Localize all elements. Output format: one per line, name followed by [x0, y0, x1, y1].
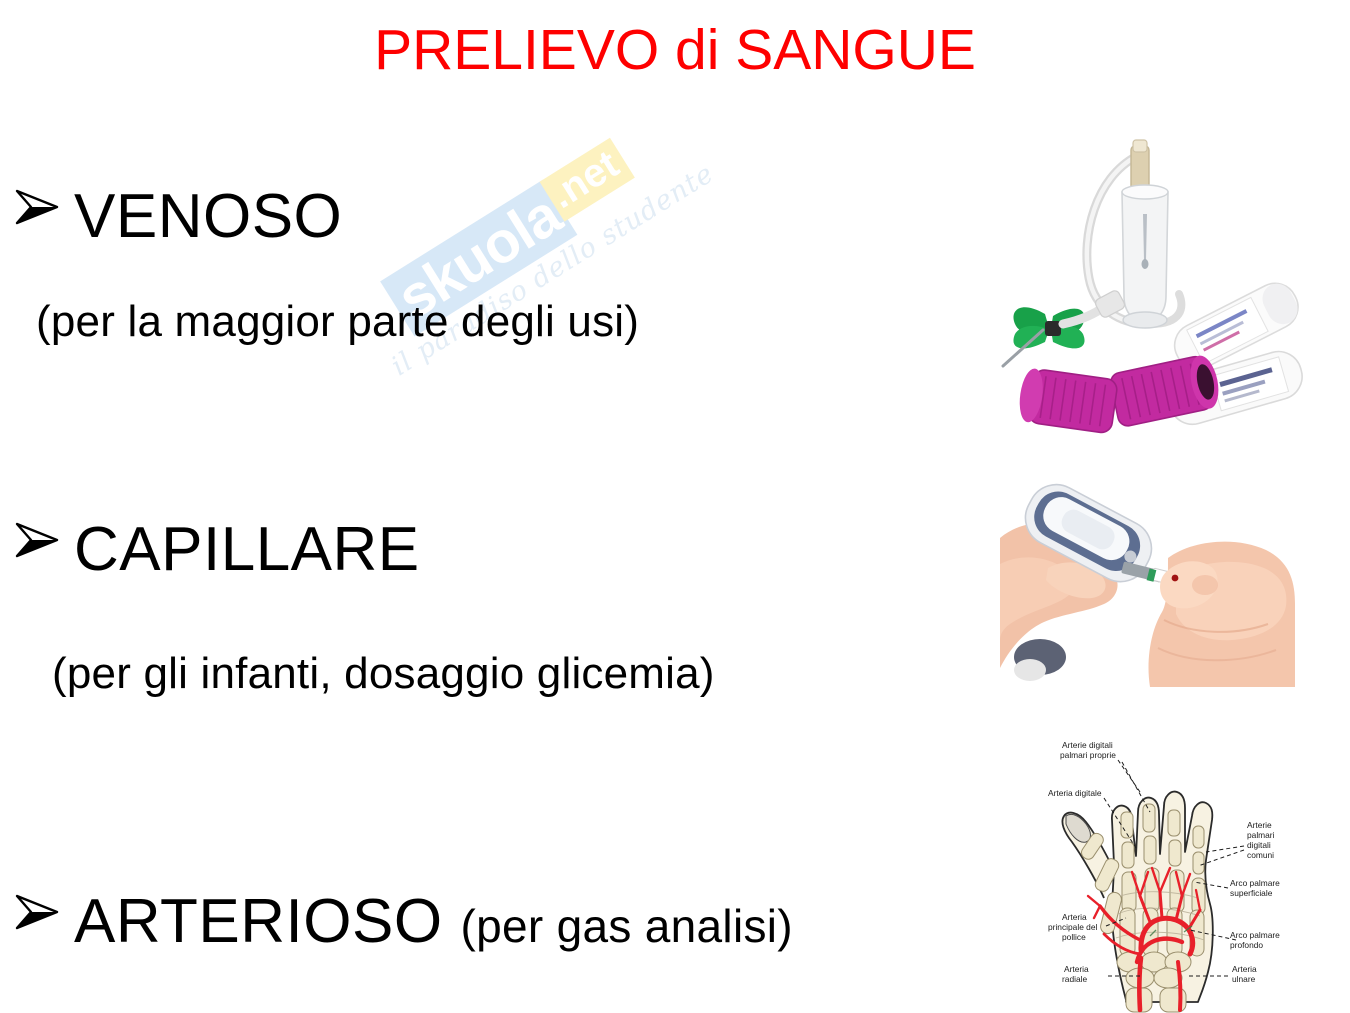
label-arterie-palmari-digitali-comuni-line1: Arterie	[1247, 820, 1272, 830]
label-arteria-principale-del-pollice-line1: Arteria	[1062, 912, 1087, 922]
bullet-subtext-capillare: (per gli infanti, dosaggio glicemia)	[0, 652, 1012, 696]
label-arteria-digitale: Arteria digitale	[1048, 788, 1102, 798]
glucometer-fingerstick-photo	[1000, 472, 1295, 687]
label-arteria-ulnare-line2: ulnare	[1232, 974, 1256, 984]
label-arteria-ulnare-line1: Arteria	[1232, 964, 1257, 974]
bullet-item-capillare: CAPILLARE	[0, 518, 960, 581]
label-arterie-palmari-digitali-comuni-line4: comuni	[1247, 850, 1274, 860]
bullet-heading-arterioso: ARTERIOSO	[74, 891, 443, 953]
label-arterie-digitali-palmari-proprie-line1: Arterie digitali	[1062, 740, 1113, 750]
label-arteria-radiale-line2: radiale	[1062, 974, 1087, 984]
label-arco-palmare-superficiale-line1: Arco palmare	[1230, 878, 1280, 888]
bullet-note-arterioso: (per gas analisi)	[443, 903, 793, 949]
label-arteria-principale-del-pollice-line3: pollice	[1062, 932, 1086, 942]
bullet-item-venoso: VENOSO	[0, 185, 960, 248]
label-arteria-principale-del-pollice-line2: principale del	[1048, 922, 1097, 932]
label-arco-palmare-profondo-line2: profondo	[1230, 940, 1263, 950]
bullet-subtext-venoso: (per la maggior parte degli usi)	[0, 300, 996, 344]
bullet-item-arterioso: ARTERIOSO (per gas analisi)	[0, 890, 960, 953]
label-arteria-radiale-line1: Arteria	[1064, 964, 1089, 974]
label-arco-palmare-superficiale-line2: superficiale	[1230, 888, 1273, 898]
label-arterie-palmari-digitali-comuni-line2: palmari	[1247, 830, 1275, 840]
hand-arterial-anatomy-diagram: Arterie digitali palmari proprie Arteria…	[1000, 700, 1348, 1013]
arrowhead-bullet-icon	[0, 886, 74, 938]
bullet-heading-capillare: CAPILLARE	[74, 519, 420, 581]
butterfly-needle-and-tubes-photo	[985, 128, 1303, 438]
slide-body: VENOSO (per la maggior parte degli usi) …	[0, 0, 960, 1013]
label-arco-palmare-profondo-line1: Arco palmare	[1230, 930, 1280, 940]
bullet-heading-venoso: VENOSO	[74, 186, 342, 248]
arrowhead-bullet-icon	[0, 181, 74, 233]
label-arterie-palmari-digitali-comuni-line3: digitali	[1247, 840, 1271, 850]
arrowhead-bullet-icon	[0, 514, 74, 566]
label-arterie-digitali-palmari-proprie-line2: palmari proprie	[1060, 750, 1116, 760]
